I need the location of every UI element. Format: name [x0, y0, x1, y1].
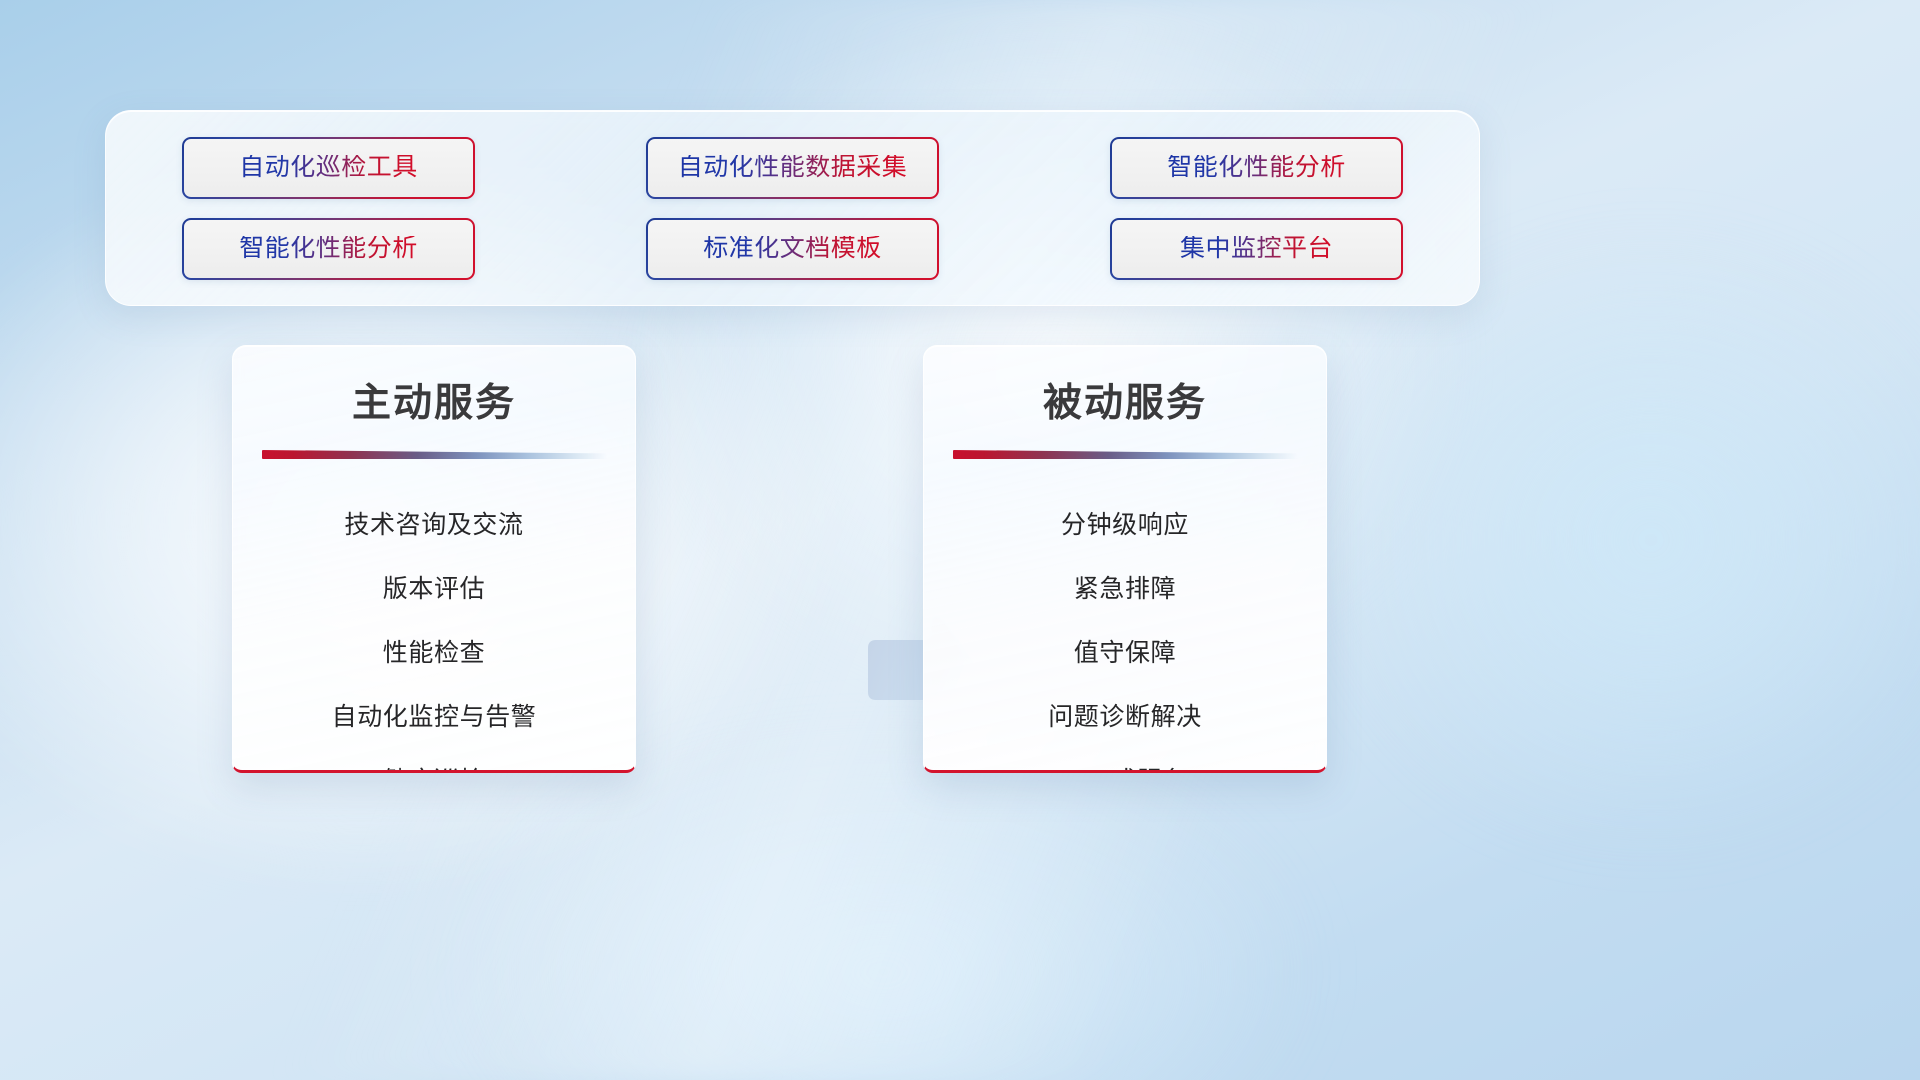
service-list-item: 分钟级响应 [924, 491, 1326, 555]
capability-pill-standardized-document-template[interactable]: 标准化文档模板 [646, 218, 939, 280]
capability-pill-label: 智能化性能分析 [1167, 155, 1346, 180]
capability-pill-automated-performance-data-collection[interactable]: 自动化性能数据采集 [646, 137, 939, 199]
capability-panel: 自动化巡检工具 自动化性能数据采集 智能化性能分析 智能化性能分析 标准化文档模… [105, 110, 1480, 306]
capability-pill-label: 标准化文档模板 [703, 236, 882, 261]
capability-row-2: 智能化性能分析 标准化文档模板 集中监控平台 [182, 218, 1403, 280]
service-item-list: 技术咨询及交流 版本评估 性能检查 自动化监控与告警 健康巡检 [233, 491, 635, 773]
service-list-item: 值守保障 [924, 619, 1326, 683]
service-list-item: 健康巡检 [233, 747, 635, 773]
pill-surface: 自动化性能数据采集 [648, 139, 937, 197]
pill-surface: 集中监控平台 [1112, 220, 1401, 278]
capability-pill-label: 智能化性能分析 [239, 236, 418, 261]
service-card-title: 主动服务 [233, 372, 635, 428]
capability-pill-intelligent-performance-analysis[interactable]: 智能化性能分析 [1110, 137, 1403, 199]
capability-pill-centralized-monitoring-platform[interactable]: 集中监控平台 [1110, 218, 1403, 280]
service-item-list: 分钟级响应 紧急排障 值守保障 问题诊断解决 SLA式服务 [924, 491, 1326, 773]
service-list-item: 问题诊断解决 [924, 683, 1326, 747]
service-card-title: 被动服务 [924, 372, 1326, 428]
pill-surface: 标准化文档模板 [648, 220, 937, 278]
pill-surface: 智能化性能分析 [184, 220, 473, 278]
service-list-item: 自动化监控与告警 [233, 683, 635, 747]
title-divider [262, 450, 607, 459]
capability-pill-intelligent-performance-analysis-2[interactable]: 智能化性能分析 [182, 218, 475, 280]
pill-surface: 智能化性能分析 [1112, 139, 1401, 197]
service-card-reactive[interactable]: 被动服务 分钟级响应 紧急排障 值守保障 问题诊断解决 SLA式服务 [923, 345, 1327, 773]
service-list-item: 技术咨询及交流 [233, 491, 635, 555]
capability-pill-label: 集中监控平台 [1180, 236, 1333, 261]
capability-pill-label: 自动化巡检工具 [239, 155, 418, 180]
capability-pill-label: 自动化性能数据采集 [678, 155, 908, 180]
service-list-item: 紧急排障 [924, 555, 1326, 619]
title-divider [953, 450, 1298, 459]
service-card-proactive[interactable]: 主动服务 技术咨询及交流 版本评估 性能检查 自动化监控与告警 健康巡检 [232, 345, 636, 773]
capability-row-1: 自动化巡检工具 自动化性能数据采集 智能化性能分析 [182, 137, 1403, 199]
pill-surface: 自动化巡检工具 [184, 139, 473, 197]
service-list-item: SLA式服务 [924, 747, 1326, 773]
service-list-item: 版本评估 [233, 555, 635, 619]
capability-pill-automated-inspection-tool[interactable]: 自动化巡检工具 [182, 137, 475, 199]
service-list-item: 性能检查 [233, 619, 635, 683]
